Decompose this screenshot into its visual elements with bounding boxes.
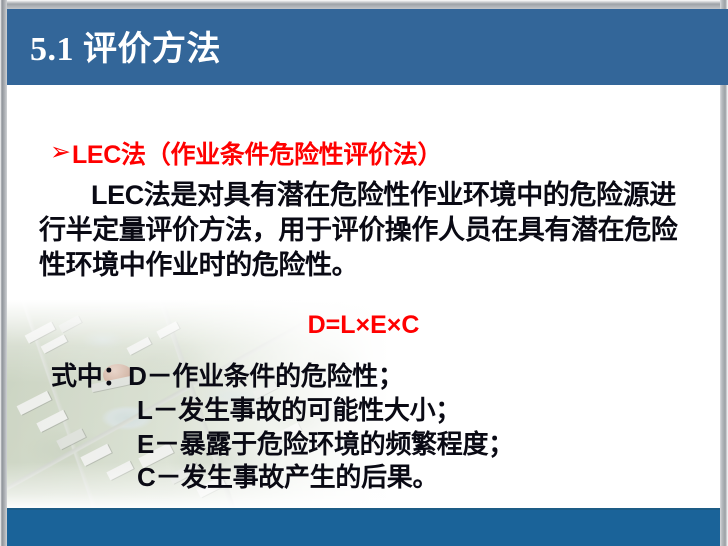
slide-footer-bar	[7, 508, 720, 546]
definition-row: E－暴露于危险环境的频繁程度；	[51, 428, 514, 462]
definition-item: C－发生事故产生的后果。	[137, 462, 438, 492]
bullet-heading-text: LEC法（作业条件危险性评价法）	[72, 135, 442, 171]
slide: 5.1 评价方法 ➢ LEC法（作业条件危险性评价法） LEC法是对具有潜在危险…	[0, 0, 728, 546]
bullet-heading: ➢ LEC法（作业条件危险性评价法）	[50, 135, 442, 171]
footer-top-line	[7, 508, 720, 510]
formula-text: D=L×E×C	[7, 311, 720, 340]
slide-header: 5.1 评价方法	[7, 9, 728, 85]
definition-item: E－暴露于危险环境的频繁程度；	[137, 429, 514, 459]
definition-item: D－作业条件的危险性；	[128, 361, 403, 391]
definition-row: 式中：D－作业条件的危险性；	[51, 360, 514, 394]
slide-content: ➢ LEC法（作业条件危险性评价法） LEC法是对具有潜在危险性作业环境中的危险…	[7, 85, 720, 508]
arrow-bullet-icon: ➢	[50, 140, 71, 165]
definition-row: C－发生事故产生的后果。	[51, 461, 514, 495]
definition-item: L－发生事故的可能性大小；	[137, 395, 461, 425]
definition-row: L－发生事故的可能性大小；	[51, 394, 514, 428]
slide-frame-top	[0, 0, 728, 9]
slide-frame-left	[0, 0, 7, 546]
definition-lead-label: 式中：	[51, 360, 128, 394]
definition-list: 式中：D－作业条件的危险性； L－发生事故的可能性大小； E－暴露于危险环境的频…	[51, 360, 514, 495]
page-title: 5.1 评价方法	[30, 21, 221, 70]
body-paragraph: LEC法是对具有潜在危险性作业环境中的危险源进行半定量评价方法，用于评价操作人员…	[39, 178, 699, 283]
